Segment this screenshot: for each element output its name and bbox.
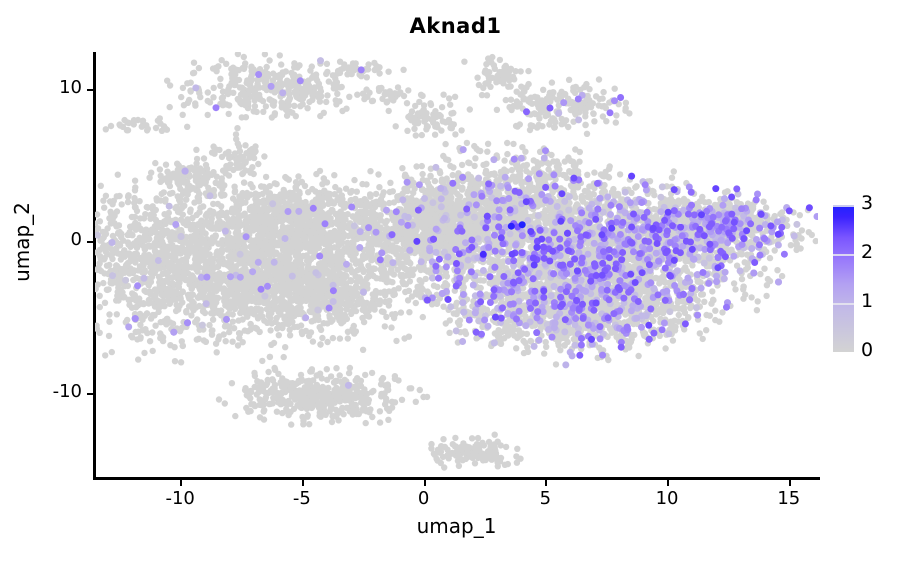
plot-area xyxy=(95,52,818,478)
x-tick-mark xyxy=(302,480,304,486)
x-tick-mark xyxy=(424,480,426,486)
page-title: Aknad1 xyxy=(0,14,911,38)
x-axis-label: umap_1 xyxy=(95,514,818,538)
y-tick-mark xyxy=(87,241,93,243)
colorbar-tick-label: 3 xyxy=(861,192,873,214)
umap-figure: Aknad1 -10-5051015 100-10 umap_1 umap_2 … xyxy=(0,0,911,562)
colorbar-tick-label: 1 xyxy=(861,290,873,312)
x-tick-label: 5 xyxy=(515,488,575,509)
x-tick-mark xyxy=(180,480,182,486)
x-tick-mark xyxy=(789,480,791,486)
colorbar-tick-label: 2 xyxy=(861,241,873,263)
x-tick-mark xyxy=(545,480,547,486)
x-tick-label: 10 xyxy=(637,488,697,509)
y-axis-label: umap_2 xyxy=(10,142,34,342)
colorbar-tick-label: 0 xyxy=(861,339,873,361)
colorbar-gradient xyxy=(833,205,854,352)
x-tick-mark xyxy=(667,480,669,486)
x-tick-label: -10 xyxy=(150,488,210,509)
x-tick-label: 0 xyxy=(394,488,454,509)
scatter-points xyxy=(95,52,818,478)
y-tick-mark xyxy=(87,89,93,91)
x-tick-label: 15 xyxy=(759,488,819,509)
y-tick-label: 10 xyxy=(20,77,82,98)
colorbar-tick-mark xyxy=(833,205,854,207)
y-tick-mark xyxy=(87,393,93,395)
y-tick-label: -10 xyxy=(20,381,82,402)
colorbar-tick-mark xyxy=(833,254,854,256)
x-tick-label: -5 xyxy=(272,488,332,509)
colorbar-tick-mark xyxy=(833,303,854,305)
